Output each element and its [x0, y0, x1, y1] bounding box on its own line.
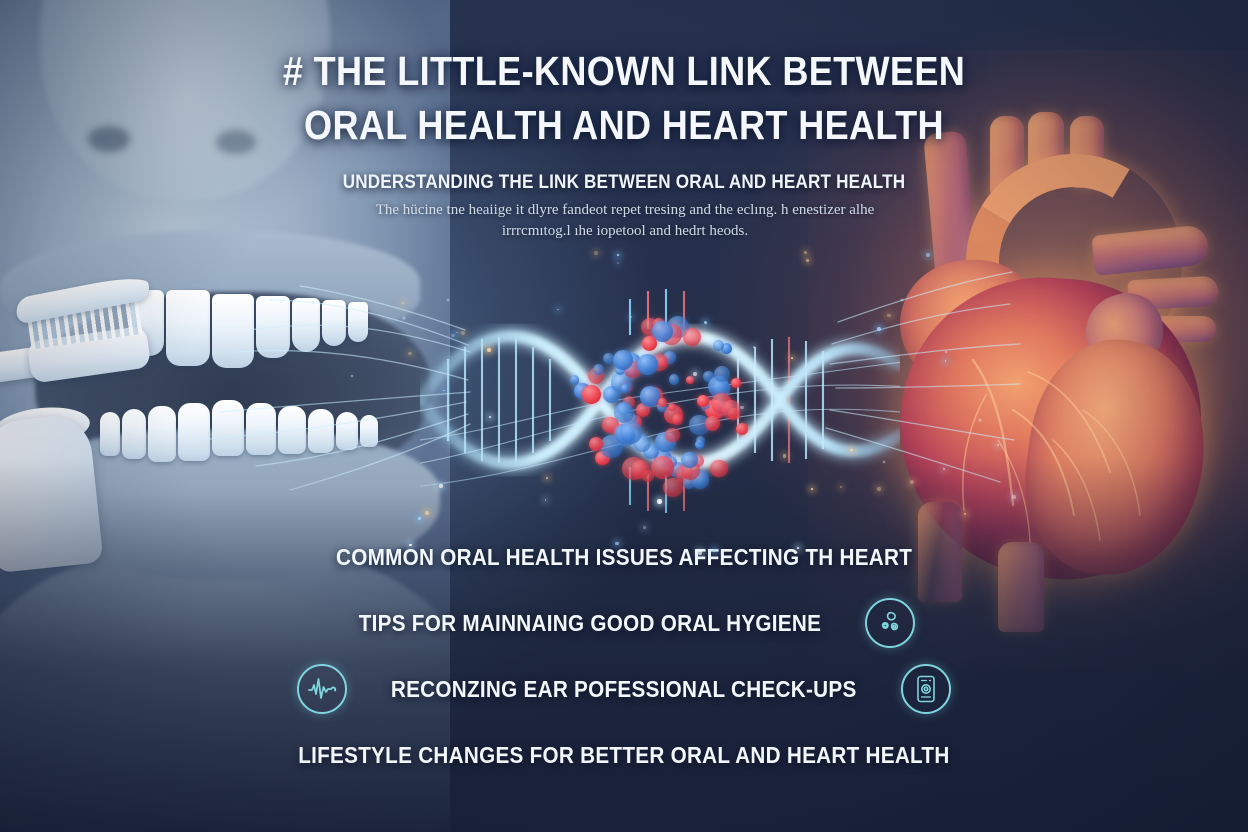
section-label-lifestyle: LIFESTYLE CHANGES FOR BETTER ORAL AND HE…	[298, 742, 949, 769]
cells-cluster-icon[interactable]	[865, 598, 915, 648]
section-label-hygiene-tips: TIPS FOR MAINNAING GOOD ORAL HYGIENE	[359, 610, 821, 637]
light-particle	[877, 487, 881, 491]
list-item[interactable]: COMMON ORAL HEALTH ISSUES AFFECTING TH H…	[0, 524, 1248, 590]
section-subheading: UNDERSTANDING THE LINK BETWEEN ORAL AND …	[62, 172, 1185, 194]
light-particle	[797, 547, 799, 549]
poster-canvas: # THE LITTLE-KNOWN LINK BETWEEN ORAL HEA…	[0, 0, 1248, 832]
light-particle	[964, 513, 966, 515]
section-label-common-issues: COMMON ORAL HEALTH ISSUES AFFECTING TH H…	[336, 544, 912, 571]
light-particle	[713, 549, 716, 552]
light-particle	[408, 352, 411, 355]
light-particle	[740, 406, 743, 409]
light-particle	[461, 331, 465, 335]
light-particle	[439, 484, 442, 487]
list-item[interactable]: RECONZING EAR POFESSIONAL CHECK-UPS	[0, 656, 1248, 722]
light-particle	[425, 511, 429, 515]
light-particle	[783, 454, 786, 457]
light-particle	[487, 348, 491, 352]
light-particle	[657, 499, 662, 504]
light-particle	[451, 334, 454, 337]
light-particle	[887, 314, 891, 318]
section-label-checkups: RECONZING EAR POFESSIONAL CHECK-UPS	[391, 676, 857, 703]
list-item[interactable]: TIPS FOR MAINNAING GOOD ORAL HYGIENE	[0, 590, 1248, 656]
heartbeat-ecg-icon[interactable]	[297, 664, 347, 714]
light-particle	[877, 327, 881, 331]
intro-paragraph: The hücine tne heaiige it dlyre fandeot …	[355, 200, 895, 243]
section-list: COMMON ORAL HEALTH ISSUES AFFECTING TH H…	[0, 524, 1248, 788]
light-particle	[594, 251, 598, 255]
page-title: # THE LITTLE-KNOWN LINK BETWEEN ORAL HEA…	[75, 44, 1173, 152]
list-item[interactable]: LIFESTYLE CHANGES FOR BETTER ORAL AND HE…	[0, 722, 1248, 788]
light-particle	[840, 486, 842, 488]
light-particle	[418, 517, 421, 520]
mobile-device-icon[interactable]	[901, 664, 951, 714]
text-content-layer: # THE LITTLE-KNOWN LINK BETWEEN ORAL HEA…	[0, 0, 1248, 832]
light-particle	[698, 550, 703, 555]
light-particle	[1012, 495, 1015, 498]
